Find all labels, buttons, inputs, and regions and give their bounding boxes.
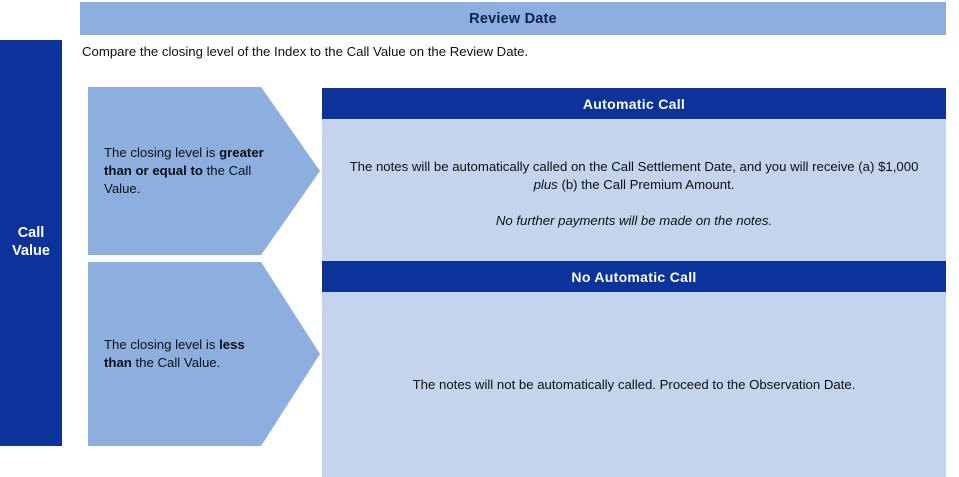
automatic-call-text-plus: plus — [534, 177, 558, 192]
review-date-flow-diagram: Review Date Call Value Compare the closi… — [0, 0, 959, 446]
call-value-label-line1: Call — [18, 225, 45, 241]
outcome-body-automatic-call: The notes will be automatically called o… — [322, 119, 946, 269]
outcome-panel-automatic-call: Automatic Call The notes will be automat… — [322, 88, 946, 269]
condition-chevron-greater-equal: The closing level is greater than or equ… — [88, 87, 320, 255]
automatic-call-payment-text: The notes will be automatically called o… — [348, 158, 920, 194]
outcome-body-no-automatic-call: The notes will not be automatically call… — [322, 292, 946, 477]
condition-text-less-than: The closing level is less than the Call … — [104, 336, 270, 371]
outcome-title-no-automatic-call: No Automatic Call — [322, 261, 946, 292]
intro-instruction-text: Compare the closing level of the Index t… — [82, 44, 942, 59]
review-date-title: Review Date — [469, 11, 557, 27]
outcome-title-automatic-call: Automatic Call — [322, 88, 946, 119]
automatic-call-text-part2: (b) the Call Premium Amount. — [558, 177, 735, 192]
review-date-header: Review Date — [80, 2, 946, 35]
automatic-call-text-part1: The notes will be automatically called o… — [350, 159, 919, 174]
condition-prefix-greater-equal: The closing level is — [104, 145, 219, 160]
call-value-label-line2: Value — [12, 243, 50, 259]
automatic-call-no-further-payments-text: No further payments will be made on the … — [496, 212, 772, 230]
condition-chevron-less-than: The closing level is less than the Call … — [88, 262, 320, 446]
outcome-panel-no-automatic-call: No Automatic Call The notes will not be … — [322, 261, 946, 477]
condition-suffix-less-than: the Call Value. — [132, 355, 220, 370]
call-value-sidebar: Call Value — [0, 40, 62, 446]
condition-text-greater-equal: The closing level is greater than or equ… — [104, 144, 270, 197]
no-automatic-call-text: The notes will not be automatically call… — [413, 376, 856, 394]
call-value-label: Call Value — [12, 225, 50, 260]
condition-prefix-less-than: The closing level is — [104, 337, 219, 352]
